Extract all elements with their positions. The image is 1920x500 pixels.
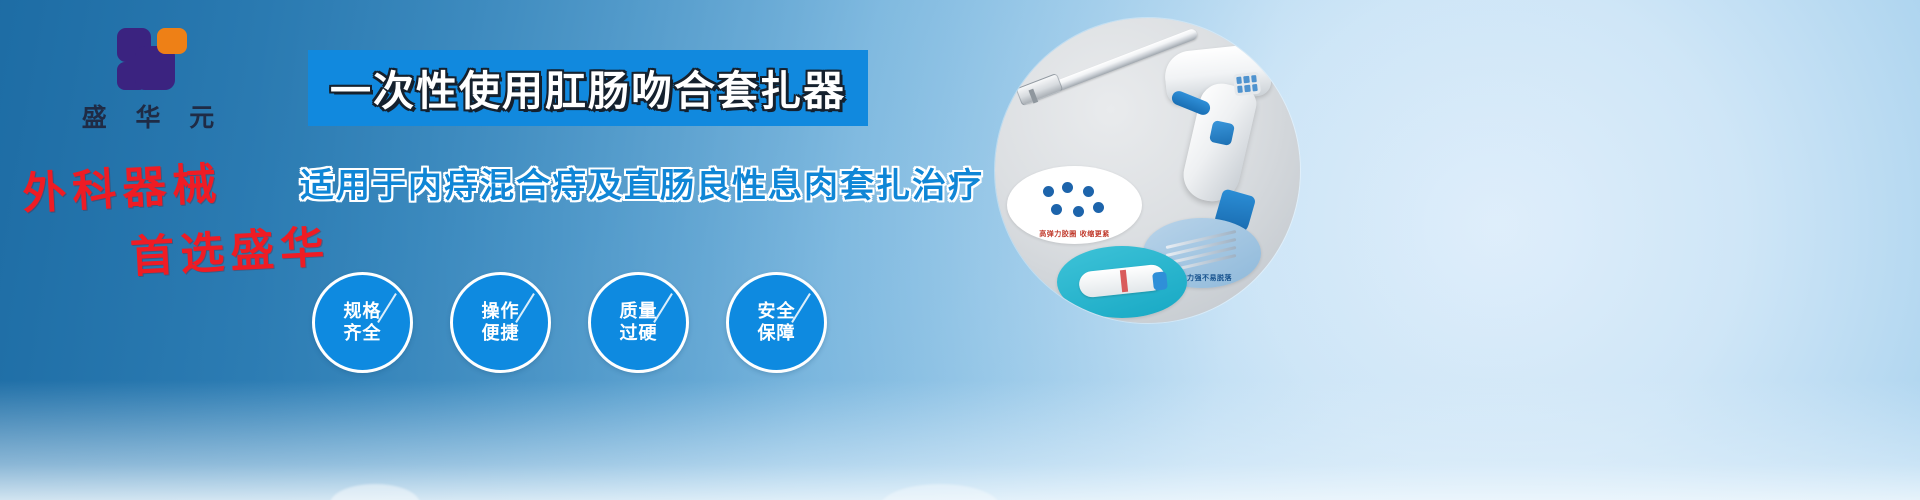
rubber-rings-icon [1043, 182, 1105, 220]
page-title: 一次性使用肛肠吻合套扎器 [330, 57, 846, 117]
feature-badge-2[interactable]: 操作 便捷 [450, 272, 551, 373]
feature-badge-4-line2: 保障 [758, 323, 796, 345]
headline-title-bar: 一次性使用肛肠吻合套扎器 [308, 50, 868, 126]
bottom-glow-left [330, 484, 420, 500]
feature-badge-1[interactable]: 规格 齐全 [312, 272, 413, 373]
slogan-line-2: 首选盛华 [128, 211, 331, 285]
brand-name: 盛 华 元 [58, 98, 238, 134]
feature-badge-4[interactable]: 安全 保障 [726, 272, 827, 373]
product-photo: 高弹力胶圈 收缩更紧 活动力强不易脱落 [995, 18, 1300, 323]
feature-badge-3[interactable]: 质量 过硬 [588, 272, 689, 373]
slogan-line-1: 外科器械 [21, 142, 332, 222]
feature-badges: 规格 齐全 操作 便捷 质量 过硬 安全 保障 [312, 272, 827, 373]
brand-slogan: 外科器械 首选盛华 [22, 150, 330, 280]
device-indicator-panel [1233, 72, 1261, 97]
feature-badge-2-line2: 便捷 [482, 323, 520, 345]
feature-badge-2-line1: 操作 [482, 301, 520, 323]
logo-block-orange [157, 28, 187, 54]
feature-badge-1-line1: 规格 [344, 301, 382, 323]
product-banner: 盛 华 元 外科器械 首选盛华 一次性使用肛肠吻合套扎器 适用于内痔混合痔及直肠… [0, 0, 1920, 500]
device-tip-blue [1152, 271, 1168, 290]
device-button [1209, 120, 1235, 146]
device-tip [1016, 73, 1064, 107]
feature-badge-4-line1: 安全 [758, 301, 796, 323]
rubber-rings-inset: 高弹力胶圈 收缩更紧 [1007, 166, 1142, 244]
rubber-rings-caption: 高弹力胶圈 收缩更紧 [1007, 229, 1142, 239]
feature-badge-3-line1: 质量 [620, 301, 658, 323]
feature-badge-3-line2: 过硬 [620, 323, 658, 345]
headline-subtitle: 适用于内痔混合痔及直肠良性息肉套扎治疗 [300, 158, 984, 207]
device-tip-inset [1057, 246, 1187, 318]
feature-badge-1-line2: 齐全 [344, 323, 382, 345]
brand-logo-block[interactable]: 盛 华 元 [58, 26, 238, 134]
shenghuayuan-blocks-logo-icon [105, 26, 191, 92]
bottom-glow-right [880, 484, 1000, 500]
